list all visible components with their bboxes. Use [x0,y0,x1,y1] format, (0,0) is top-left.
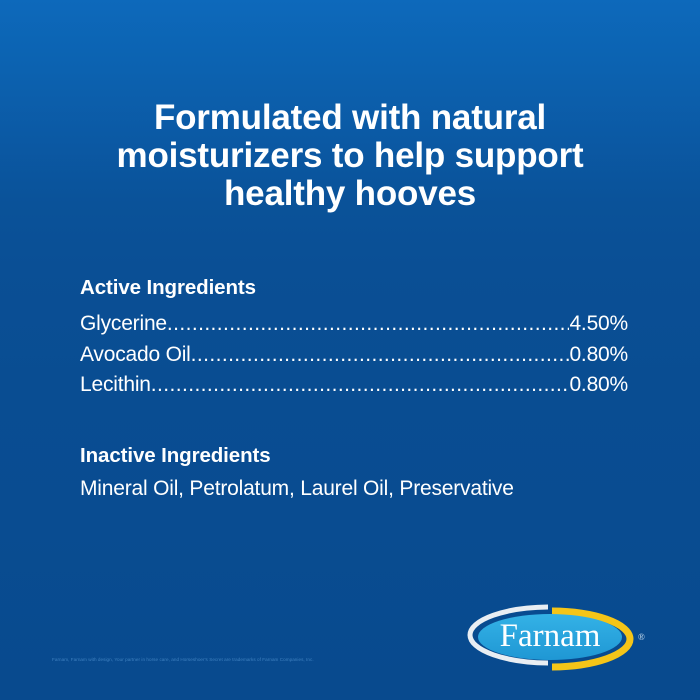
leader-dots [191,340,570,361]
list-item: Lecithin 0.80% [80,370,628,401]
ingredient-value: 4.50% [569,309,628,340]
ingredient-name: Glycerine [80,309,167,340]
inactive-ingredients-heading: Inactive Ingredients [80,444,628,468]
legal-fine-print: Farnam, Farnam with design, Your partner… [52,656,314,664]
farnam-logo: Farnam [466,601,634,673]
product-info-panel: Formulated with natural moisturizers to … [0,0,700,700]
ingredient-name: Lecithin [80,370,151,401]
ingredients-content: Active Ingredients Glycerine 4.50% Avoca… [80,276,628,503]
leader-dots [167,309,570,330]
headline-line-2: moisturizers to help support [95,137,605,175]
page-title: Formulated with natural moisturizers to … [0,99,700,213]
inactive-ingredients-text: Mineral Oil, Petrolatum, Laurel Oil, Pre… [80,475,628,503]
headline-line-3: healthy hooves [95,175,605,213]
list-item: Glycerine 4.50% [80,309,628,340]
ingredient-name: Avocado Oil [80,340,191,371]
leader-dots [151,370,570,391]
list-item: Avocado Oil 0.80% [80,340,628,371]
registered-trademark-icon: ® [638,633,645,642]
ingredient-value: 0.80% [569,340,628,371]
active-ingredients-section: Active Ingredients Glycerine 4.50% Avoca… [80,276,628,401]
logo-wordmark: Farnam [500,618,601,654]
active-ingredients-list: Glycerine 4.50% Avocado Oil 0.80% Lecith… [80,309,628,401]
inactive-ingredients-section: Inactive Ingredients Mineral Oil, Petrol… [80,444,628,503]
headline-line-1: Formulated with natural [95,99,605,137]
active-ingredients-heading: Active Ingredients [80,276,628,300]
ingredient-value: 0.80% [569,370,628,401]
